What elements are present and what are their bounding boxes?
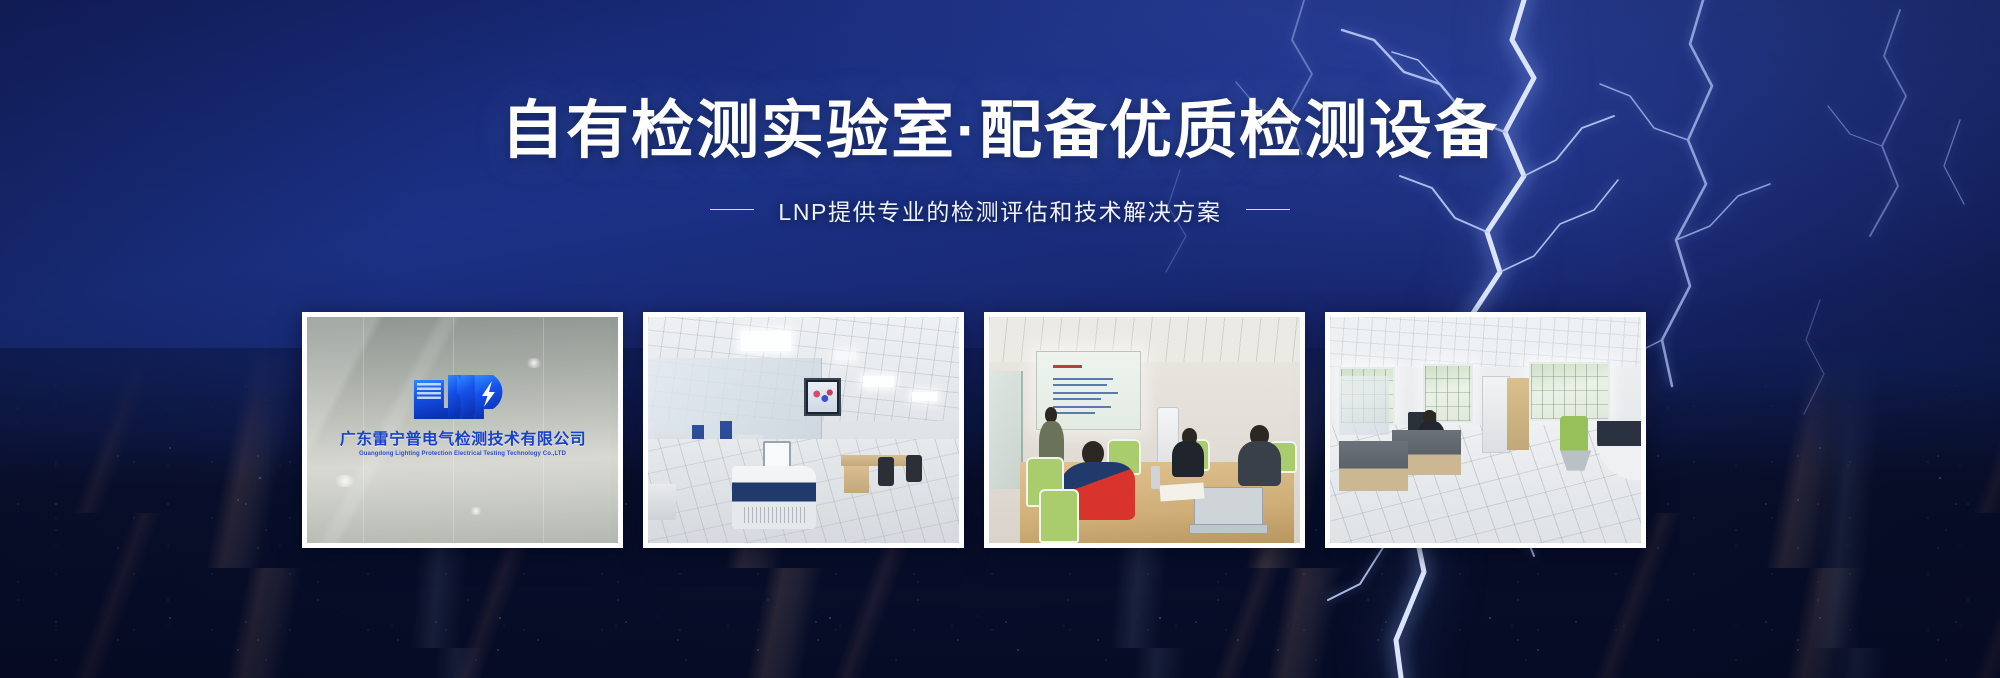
- photo-gallery: 广东雷宁普电气检测技术有限公司 Guangdong Lighting Prote…: [302, 312, 1646, 548]
- page-subtitle: LNP提供专业的检测评估和技术解决方案: [778, 193, 1221, 227]
- gallery-photo-company-signage[interactable]: 广东雷宁普电气检测技术有限公司 Guangdong Lighting Prote…: [302, 312, 623, 548]
- hero-banner: 自有检测实验室·配备优质检测设备 LNP提供专业的检测评估和技术解决方案: [0, 0, 2000, 678]
- company-logo: 广东雷宁普电气检测技术有限公司 Guangdong Lighting Prote…: [319, 371, 605, 457]
- right-rule-decoration: [1246, 209, 1290, 210]
- left-rule-decoration: [710, 209, 754, 210]
- logo-company-name-cn: 广东雷宁普电气检测技术有限公司: [317, 427, 609, 449]
- subtitle-row: LNP提供专业的检测评估和技术解决方案: [0, 193, 2000, 227]
- logo-company-name-en: Guangdong Lighting Protection Electrical…: [319, 451, 605, 457]
- headline-block: 自有检测实验室·配备优质检测设备 LNP提供专业的检测评估和技术解决方案: [0, 96, 2000, 227]
- lnp-logo-icon: [408, 371, 516, 423]
- photo-image-office: [1330, 317, 1641, 543]
- gallery-photo-meeting-room[interactable]: [984, 312, 1305, 548]
- photo-image-meeting-room: [989, 317, 1300, 543]
- page-title: 自有检测实验室·配备优质检测设备: [0, 96, 2000, 167]
- photo-image-laboratory: [648, 317, 959, 543]
- photo-image-signage: 广东雷宁普电气检测技术有限公司 Guangdong Lighting Prote…: [307, 317, 618, 543]
- gallery-photo-office[interactable]: [1325, 312, 1646, 548]
- gallery-photo-laboratory[interactable]: [643, 312, 964, 548]
